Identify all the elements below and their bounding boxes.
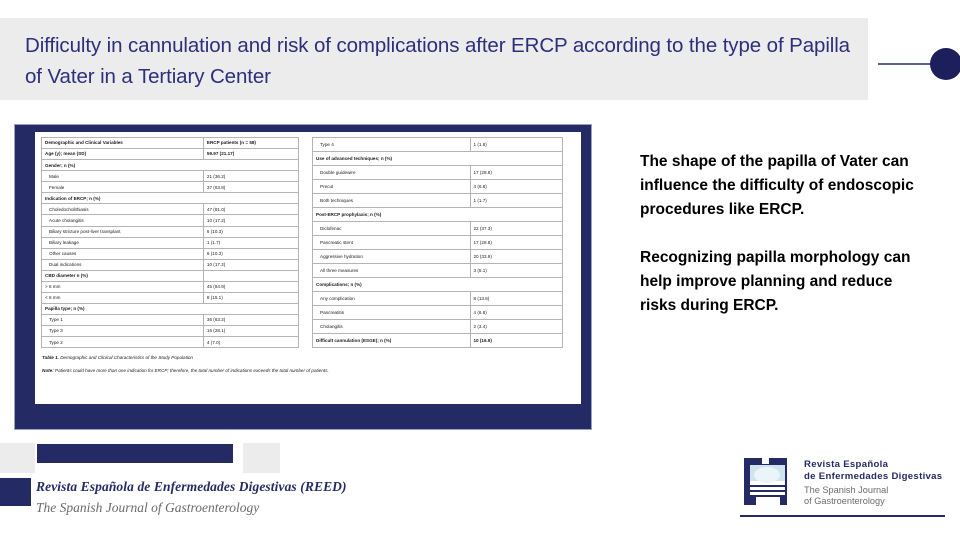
table-row: Precut4 (6.8) — [313, 180, 563, 194]
table-cell-value: 17 (28.8) — [470, 236, 563, 250]
table-row: Male21 (36.2) — [42, 171, 299, 182]
table-cell-value: 1 (1.7) — [203, 237, 298, 248]
table-cell-value: 10 (16.9) — [470, 334, 563, 348]
table-caption-label: Table 1. — [42, 355, 59, 360]
table-cell-label: Post-ERCP prophylaxis; n (%) — [313, 208, 563, 222]
table-cell-value: 10 (17.2) — [203, 215, 298, 226]
table-cell-value: 1 (1.8) — [470, 138, 563, 152]
table-cell-label: Type 3 — [42, 326, 204, 337]
footer-navy-bar — [37, 444, 233, 463]
table-cell-value: 3 (5.1) — [470, 264, 563, 278]
paragraph-spacer — [640, 222, 925, 246]
table-row: Female37 (63.8) — [42, 182, 299, 193]
table-row: Choledocholithiasis47 (81.0) — [42, 204, 299, 215]
table-cell-value: 36 (63.2) — [203, 315, 298, 326]
table-cell-value: 4 (7.0) — [203, 337, 298, 348]
table-figure-frame: Demographic and Clinical VariablesERCP p… — [14, 124, 592, 430]
table-row: Any complication8 (13.6) — [313, 292, 563, 306]
journal-logo-title-line2: de Enfermedades Digestivas — [804, 471, 942, 483]
table-cell-label: Female — [42, 182, 204, 193]
footer-journal-subtitle: The Spanish Journal of Gastroenterology — [36, 500, 259, 516]
journal-logo: Revista Española de Enfermedades Digesti… — [740, 452, 945, 522]
table-body-right: Type 41 (1.8)Use of advanced techniques;… — [313, 138, 563, 348]
table-row: Pancreatitis4 (6.8) — [313, 306, 563, 320]
table-cell-label: Type 2 — [42, 337, 204, 348]
table-cell-value: 10 (17.2) — [203, 259, 298, 270]
table-cell-value: 45 (84.9) — [203, 281, 298, 292]
table-row: Indication of ERCP; n (%) — [42, 193, 299, 204]
table-row: Dual indications10 (17.2) — [42, 259, 299, 270]
footer-navy-square — [0, 478, 31, 506]
table-cell-label: Demographic and Clinical Variables — [42, 138, 204, 149]
table-cell-label: Pancreatic stent — [313, 236, 471, 250]
table-row: Type 41 (1.8) — [313, 138, 563, 152]
footer-grey-block-right — [243, 443, 280, 473]
table-cell-label: > 6 mm — [42, 281, 204, 292]
table-row: Cholangitis2 (3.4) — [313, 320, 563, 334]
table-cell-value — [203, 270, 298, 281]
journal-logo-title-line1: Revista Española — [804, 459, 942, 471]
table-cell-label: Both techniques — [313, 194, 471, 208]
table-row: CBD diameter n (%) — [42, 270, 299, 281]
key-message-text: The shape of the papilla of Vater can in… — [640, 150, 925, 318]
table-row: All three measures3 (5.1) — [313, 264, 563, 278]
table-cell-label: Acute cholangitis — [42, 215, 204, 226]
table-cell-value: 8 (13.6) — [470, 292, 563, 306]
table-cell-value: 2 (3.4) — [470, 320, 563, 334]
page-title: Difficulty in cannulation and risk of co… — [25, 30, 855, 92]
table-cell-label: Pancreatitis — [313, 306, 471, 320]
demographics-table-left: Demographic and Clinical VariablesERCP p… — [41, 137, 299, 348]
table-row: Pancreatic stent17 (28.8) — [313, 236, 563, 250]
table-row: Complications; n (%) — [313, 278, 563, 292]
footer-grey-block-left — [0, 443, 35, 473]
journal-logo-mark-icon — [740, 454, 795, 509]
table-row: Diclofenac22 (37.3) — [313, 222, 563, 236]
table-cell-label: Age (y); mean (SD) — [42, 149, 204, 160]
table-row: Gender; n (%) — [42, 160, 299, 171]
table-cell-label: Indication of ERCP; n (%) — [42, 193, 299, 204]
table-cell-label: Type 4 — [313, 138, 471, 152]
table-cell-label: Dual indications — [42, 259, 204, 270]
table-caption-text: Demographic and Clinical Characteristics… — [59, 355, 193, 360]
table-cell-label: Diclofenac — [313, 222, 471, 236]
journal-logo-subtitle-line2: of Gastroenterology — [804, 496, 888, 507]
table-body-left: Demographic and Clinical VariablesERCP p… — [42, 138, 299, 348]
journal-logo-subtitle: The Spanish Journal of Gastroenterology — [804, 485, 888, 507]
journal-logo-underline — [740, 515, 945, 517]
table-cell-value: 1 (1.7) — [470, 194, 563, 208]
table-cell-value: 4 (6.8) — [470, 306, 563, 320]
title-accent-dot-icon — [930, 48, 960, 80]
table-cell-label: Male — [42, 171, 204, 182]
table-cell-label: Choledocholithiasis — [42, 204, 204, 215]
demographics-table-right: Type 41 (1.8)Use of advanced techniques;… — [312, 137, 563, 348]
table-row: Aggressive hydration20 (33.9) — [313, 250, 563, 264]
table-cell-label: All three measures — [313, 264, 471, 278]
table-cell-label: Papilla type; n (%) — [42, 303, 299, 314]
journal-logo-title: Revista Española de Enfermedades Digesti… — [804, 459, 942, 482]
table-cell-value: 21 (36.2) — [203, 171, 298, 182]
table-row: < 6 mm8 (15.1) — [42, 292, 299, 303]
table-cell-value: 17 (28.8) — [470, 166, 563, 180]
table-cell-label: Any complication — [313, 292, 471, 306]
table-note-label: Note: — [42, 368, 54, 373]
table-cell-label: Precut — [313, 180, 471, 194]
table-row: Type 136 (63.2) — [42, 315, 299, 326]
table-note-text: Patients could have more than one indica… — [54, 368, 329, 373]
table-cell-label: Type 1 — [42, 315, 204, 326]
table-row: Age (y); mean (SD)59.97 (21.17) — [42, 149, 299, 160]
journal-logo-subtitle-line1: The Spanish Journal — [804, 485, 888, 496]
table-row: Post-ERCP prophylaxis; n (%) — [313, 208, 563, 222]
table-cell-value: 22 (37.3) — [470, 222, 563, 236]
table-row: Use of advanced techniques; n (%) — [313, 152, 563, 166]
table-sheet: Demographic and Clinical VariablesERCP p… — [35, 132, 581, 404]
table-cell-label: Aggressive hydration — [313, 250, 471, 264]
table-cell-label: Difficult cannulation (ESGE); n (%) — [313, 334, 471, 348]
table-cell-label: < 6 mm — [42, 292, 204, 303]
table-cell-value: 20 (33.9) — [470, 250, 563, 264]
table-caption: Table 1. Demographic and Clinical Charac… — [42, 355, 581, 362]
table-row: Other causes6 (10.3) — [42, 248, 299, 259]
table-cell-label: Complications; n (%) — [313, 278, 563, 292]
table-row: Type 24 (7.0) — [42, 337, 299, 348]
table-row: Double guidewire17 (28.8) — [313, 166, 563, 180]
table-cell-value: 37 (63.8) — [203, 182, 298, 193]
table-cell-value: ERCP patients (n = 58) — [203, 138, 298, 149]
table-cell-label: Cholangitis — [313, 320, 471, 334]
table-row: Papilla type; n (%) — [42, 303, 299, 314]
table-cell-value: 6 (10.3) — [203, 226, 298, 237]
table-cell-value: 16 (28.1) — [203, 326, 298, 337]
key-message-paragraph-1: The shape of the papilla of Vater can in… — [640, 150, 925, 222]
table-cell-value: 4 (6.8) — [470, 180, 563, 194]
table-cell-value: 6 (10.3) — [203, 248, 298, 259]
table-row: Difficult cannulation (ESGE); n (%)10 (1… — [313, 334, 563, 348]
table-cell-label: CBD diameter n (%) — [42, 270, 204, 281]
table-row: Type 316 (28.1) — [42, 326, 299, 337]
table-row: Demographic and Clinical VariablesERCP p… — [42, 138, 299, 149]
table-cell-label: Use of advanced techniques; n (%) — [313, 152, 563, 166]
table-row: > 6 mm45 (84.9) — [42, 281, 299, 292]
table-row: Biliary stricture post-liver transplant6… — [42, 226, 299, 237]
table-cell-value: 8 (15.1) — [203, 292, 298, 303]
table-row: Biliary leakage1 (1.7) — [42, 237, 299, 248]
table-row: Both techniques1 (1.7) — [313, 194, 563, 208]
table-cell-label: Biliary leakage — [42, 237, 204, 248]
table-cell-label: Other causes — [42, 248, 204, 259]
footer-journal-title: Revista Española de Enfermedades Digesti… — [36, 479, 347, 495]
table-cell-label: Double guidewire — [313, 166, 471, 180]
key-message-paragraph-2: Recognizing papilla morphology can help … — [640, 246, 925, 318]
table-cell-value: 59.97 (21.17) — [203, 149, 298, 160]
table-row: Acute cholangitis10 (17.2) — [42, 215, 299, 226]
table-cell-label: Biliary stricture post-liver transplant — [42, 226, 204, 237]
table-note: Note: Patients could have more than one … — [42, 368, 581, 375]
table-cell-label: Gender; n (%) — [42, 160, 299, 171]
table-cell-value: 47 (81.0) — [203, 204, 298, 215]
